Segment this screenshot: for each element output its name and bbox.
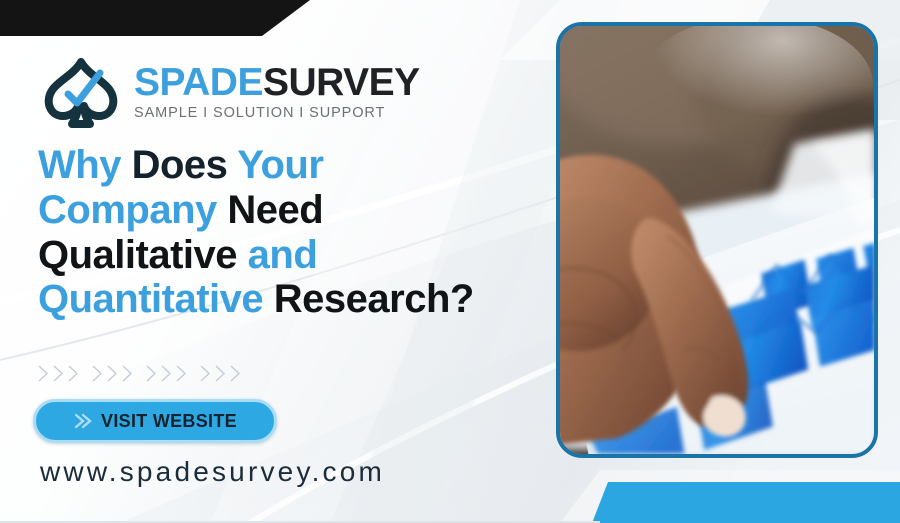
chevron-right-icon xyxy=(199,364,212,383)
chevron-right-icon xyxy=(91,364,104,383)
headline-line-2: Company Need xyxy=(38,188,558,233)
logo-text-block: SPADESURVEY SAMPLE I SOLUTION I SUPPORT xyxy=(134,63,420,121)
logo-tagline: SAMPLE I SOLUTION I SUPPORT xyxy=(134,105,420,121)
chevron-group xyxy=(37,364,80,383)
chevron-group xyxy=(91,364,134,383)
headline-line-4: Quantitative Research? xyxy=(38,277,558,322)
photo-frame xyxy=(556,22,878,458)
page-title: Why Does Your Company Need Qualitative a… xyxy=(38,143,558,322)
visit-website-button[interactable]: VISIT WEBSITE xyxy=(33,399,277,443)
headline-word-and: and xyxy=(248,233,318,277)
top-left-black-band xyxy=(0,0,310,36)
logo-wordmark-spade: SPADE xyxy=(134,61,263,104)
logo-wordmark: SPADESURVEY xyxy=(134,63,420,102)
chevron-right-icon xyxy=(37,364,50,383)
headline-word-your: Your xyxy=(237,143,323,187)
headline-word-quantitative: Quantitative xyxy=(38,277,263,321)
chevron-group xyxy=(199,364,242,383)
visit-website-button-label: VISIT WEBSITE xyxy=(101,411,237,432)
headline-word-company: Company xyxy=(38,188,217,232)
chevron-right-icon xyxy=(229,364,242,383)
chevron-right-icon xyxy=(214,364,227,383)
chevron-right-icon xyxy=(145,364,158,383)
double-chevron-right-icon xyxy=(73,412,95,430)
bottom-right-blue-shape xyxy=(592,482,900,523)
chevron-right-icon xyxy=(160,364,173,383)
chevron-right-icon xyxy=(175,364,188,383)
chevron-right-icon xyxy=(52,364,65,383)
spade-check-icon xyxy=(38,56,124,128)
headline-word-research: Research? xyxy=(274,277,474,321)
hero-photo xyxy=(560,26,874,454)
headline-word-need: Need xyxy=(227,188,323,232)
chevron-right-icon xyxy=(67,364,80,383)
headline-word-does: Does xyxy=(132,143,228,187)
chevron-decoration-strip xyxy=(37,364,242,383)
brand-logo[interactable]: SPADESURVEY SAMPLE I SOLUTION I SUPPORT xyxy=(38,56,420,128)
headline-word-why: Why xyxy=(38,143,121,187)
headline-line-1: Why Does Your xyxy=(38,143,558,188)
headline-word-qualitative: Qualitative xyxy=(38,233,237,277)
headline-line-3: Qualitative and xyxy=(38,233,558,278)
chevron-right-icon xyxy=(106,364,119,383)
chevron-right-icon xyxy=(121,364,134,383)
website-url[interactable]: www.spadesurvey.com xyxy=(40,456,385,488)
chevron-group xyxy=(145,364,188,383)
promo-banner: SPADESURVEY SAMPLE I SOLUTION I SUPPORT … xyxy=(0,0,900,523)
logo-wordmark-survey: SURVEY xyxy=(263,61,420,104)
